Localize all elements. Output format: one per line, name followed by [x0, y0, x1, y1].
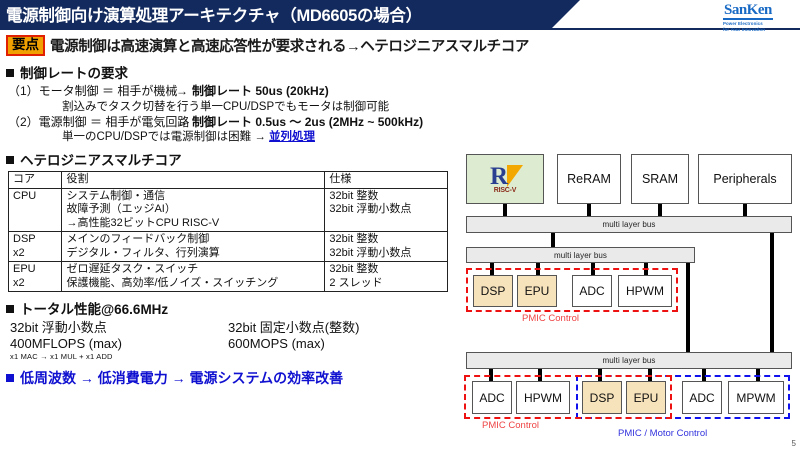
requirement-1-sub: 割込みでタスク切替を行う単一CPU/DSPでもモータは制御可能	[62, 100, 458, 115]
perf-float-value: 400MFLOPS (max)	[10, 336, 228, 352]
section-heading-control-rate-label: 制御レートの要求	[20, 66, 128, 81]
title-underline	[0, 28, 800, 30]
bus-multi-layer-mid: multi layer bus	[466, 247, 695, 263]
section-summary: 低周波数 → 低消費電力 → 電源システムの効率改善	[6, 368, 458, 388]
block-hpwm-mid: HPWM	[618, 275, 672, 307]
performance-col-fixed: 32bit 固定小数点(整数) 600MOPS (max)	[228, 320, 446, 352]
risc-v-logo-icon: R	[485, 164, 525, 190]
bullet-square-icon	[6, 156, 14, 164]
risc-v-letter-icon: R	[490, 165, 508, 189]
architecture-diagram: R RISC-V ReRAM SRAM Peripherals multi la…	[458, 150, 800, 449]
block-sram: SRAM	[631, 154, 689, 204]
section-heading-hetero: ヘテロジニアスマルチコア	[6, 149, 458, 169]
annotation-pmic-control-mid: PMIC Control	[522, 313, 579, 324]
table-row: CPU システム制御・通信 故障予測（エッジAI） →高性能32ビットCPU R…	[9, 188, 448, 232]
performance-footnote: x1 MAC → x1 MUL + x1 ADD	[10, 352, 458, 362]
cell-role: メインのフィードバック制御 デジタル・フィルタ、行列演算	[62, 232, 325, 262]
cell-core: EPU x2	[9, 262, 62, 292]
annotation-pmic-control-bottom: PMIC Control	[482, 420, 539, 431]
logo-tagline-line1: Power Electronics	[723, 21, 797, 26]
cell-role: システム制御・通信 故障予測（エッジAI） →高性能32ビットCPU RISC-…	[62, 188, 325, 232]
block-mpwm-bottom-label: MPWM	[736, 391, 775, 405]
connector-line-right-trunk	[770, 233, 774, 352]
block-sram-label: SRAM	[642, 172, 678, 186]
page-title: 電源制御向け演算処理アーキテクチャ（MD6605の場合）	[6, 2, 422, 26]
bus-multi-layer-bottom-label: multi layer bus	[602, 356, 655, 365]
connector-line	[503, 204, 507, 216]
bus-multi-layer-mid-label: multi layer bus	[554, 251, 607, 260]
block-adc-bottom-1-label: ADC	[479, 391, 504, 405]
perf-float-label: 32bit 浮動小数点	[10, 320, 228, 336]
block-reram: ReRAM	[557, 154, 621, 204]
keypoint-row: 要点 電源制御は高速演算と高速応答性が要求される→ヘテロジニアスマルチコア	[6, 35, 529, 56]
block-hpwm-bottom: HPWM	[516, 381, 570, 414]
block-epu-bottom-label: EPU	[634, 391, 659, 405]
requirement-2-sub-link: 並列処理	[269, 131, 315, 143]
page-number: 5	[792, 439, 796, 448]
bus-multi-layer-bottom: multi layer bus	[466, 352, 792, 369]
block-adc-bottom-2-label: ADC	[689, 391, 714, 405]
requirement-2-label: （2）電源制御 ＝ 相手が電気回路	[8, 115, 176, 131]
block-dsp-bottom: DSP	[582, 381, 622, 414]
requirement-2-sub: 単一のCPU/DSPでは電源制御は困難 → 並列処理	[62, 130, 458, 145]
table-row: DSP x2 メインのフィードバック制御 デジタル・フィルタ、行列演算 32bi…	[9, 232, 448, 262]
block-risc-v: R RISC-V	[466, 154, 544, 204]
table-header-row: コア 役割 仕様	[9, 172, 448, 189]
connector-line	[587, 204, 591, 216]
requirement-1-value: 制御レート 50us (20kHz)	[192, 84, 329, 100]
block-adc-bottom-1: ADC	[472, 381, 512, 414]
cell-core: DSP x2	[9, 232, 62, 262]
section-summary-label: 低周波数 → 低消費電力 → 電源システムの効率改善	[20, 370, 343, 386]
connector-line	[658, 204, 662, 216]
section-heading-hetero-label: ヘテロジニアスマルチコア	[20, 153, 182, 168]
logo-tagline-line2: for Your Innovation	[723, 27, 797, 32]
bullet-square-icon	[6, 374, 14, 382]
cell-spec: 32bit 整数 32bit 浮動小数点	[325, 188, 448, 232]
block-epu-mid-label: EPU	[525, 284, 550, 298]
keypoint-badge: 要点	[6, 35, 45, 56]
cell-core: CPU	[9, 188, 62, 232]
table-header-spec: 仕様	[325, 172, 448, 189]
block-hpwm-bottom-label: HPWM	[524, 391, 562, 405]
performance-col-float: 32bit 浮動小数点 400MFLOPS (max)	[10, 320, 228, 352]
requirement-item-2: （2）電源制御 ＝ 相手が電気回路 → 制御レート 0.5us ～ 2us (2…	[8, 115, 458, 131]
arrow-icon: →	[176, 115, 188, 131]
block-reram-label: ReRAM	[567, 172, 611, 186]
logo-wordmark: SanKen	[723, 3, 773, 20]
connector-line	[551, 233, 555, 247]
block-dsp-bottom-label: DSP	[590, 391, 615, 405]
cell-spec: 32bit 整数 2 スレッド	[325, 262, 448, 292]
perf-fixed-value: 600MOPS (max)	[228, 336, 446, 352]
section-heading-performance-label: トータル性能@66.6MHz	[20, 302, 168, 317]
slide-root: 電源制御向け演算処理アーキテクチャ（MD6605の場合） SanKen Powe…	[0, 0, 800, 449]
table-row: EPU x2 ゼロ遅延タスク・スイッチ 保護機能、高効率/低ノイズ・スイッチング…	[9, 262, 448, 292]
bus-multi-layer-top-label: multi layer bus	[602, 220, 655, 229]
table-header-role: 役割	[62, 172, 325, 189]
core-table: コア 役割 仕様 CPU システム制御・通信 故障予測（エッジAI） →高性能3…	[8, 171, 448, 292]
table-header-core: コア	[9, 172, 62, 189]
risc-v-wedge-icon	[507, 165, 523, 187]
block-epu-bottom: EPU	[626, 381, 666, 414]
bullet-square-icon	[6, 69, 14, 77]
requirement-2-sub-text: 単一のCPU/DSPでは電源制御は困難 →	[62, 131, 266, 143]
keypoint-text: 電源制御は高速演算と高速応答性が要求される→ヘテロジニアスマルチコア	[50, 35, 529, 56]
annotation-pmic-motor-control: PMIC / Motor Control	[618, 428, 707, 439]
connector-line	[743, 204, 747, 216]
block-adc-mid: ADC	[572, 275, 612, 307]
left-column: 制御レートの要求 （1）モータ制御 ＝ 相手が機械 → 制御レート 50us (…	[0, 62, 458, 390]
arrow-icon: →	[176, 84, 188, 100]
connector-line-mid-trunk	[686, 263, 690, 352]
cell-role: ゼロ遅延タスク・スイッチ 保護機能、高効率/低ノイズ・スイッチング	[62, 262, 325, 292]
block-dsp-mid-label: DSP	[481, 284, 506, 298]
requirement-1-label: （1）モータ制御 ＝ 相手が機械	[8, 84, 176, 100]
block-adc-bottom-2: ADC	[682, 381, 722, 414]
block-mpwm-bottom: MPWM	[728, 381, 784, 414]
block-epu-mid: EPU	[517, 275, 557, 307]
bullet-square-icon	[6, 305, 14, 313]
block-adc-mid-label: ADC	[579, 284, 604, 298]
performance-row: 32bit 浮動小数点 400MFLOPS (max) 32bit 固定小数点(…	[10, 320, 458, 352]
cell-spec: 32bit 整数 32bit 浮動小数点	[325, 232, 448, 262]
section-heading-performance: トータル性能@66.6MHz	[6, 298, 458, 318]
requirement-2-value: 制御レート 0.5us ～ 2us (2MHz ~ 500kHz)	[192, 115, 423, 131]
perf-fixed-label: 32bit 固定小数点(整数)	[228, 320, 446, 336]
block-hpwm-mid-label: HPWM	[626, 284, 664, 298]
section-heading-control-rate: 制御レートの要求	[6, 62, 458, 82]
requirement-item-1: （1）モータ制御 ＝ 相手が機械 → 制御レート 50us (20kHz)	[8, 84, 458, 100]
sanken-logo: SanKen Power Electronics for Your Innova…	[723, 1, 797, 27]
bus-multi-layer-top: multi layer bus	[466, 216, 792, 233]
block-dsp-mid: DSP	[473, 275, 513, 307]
block-peripherals: Peripherals	[698, 154, 792, 204]
block-peripherals-label: Peripherals	[713, 172, 776, 186]
